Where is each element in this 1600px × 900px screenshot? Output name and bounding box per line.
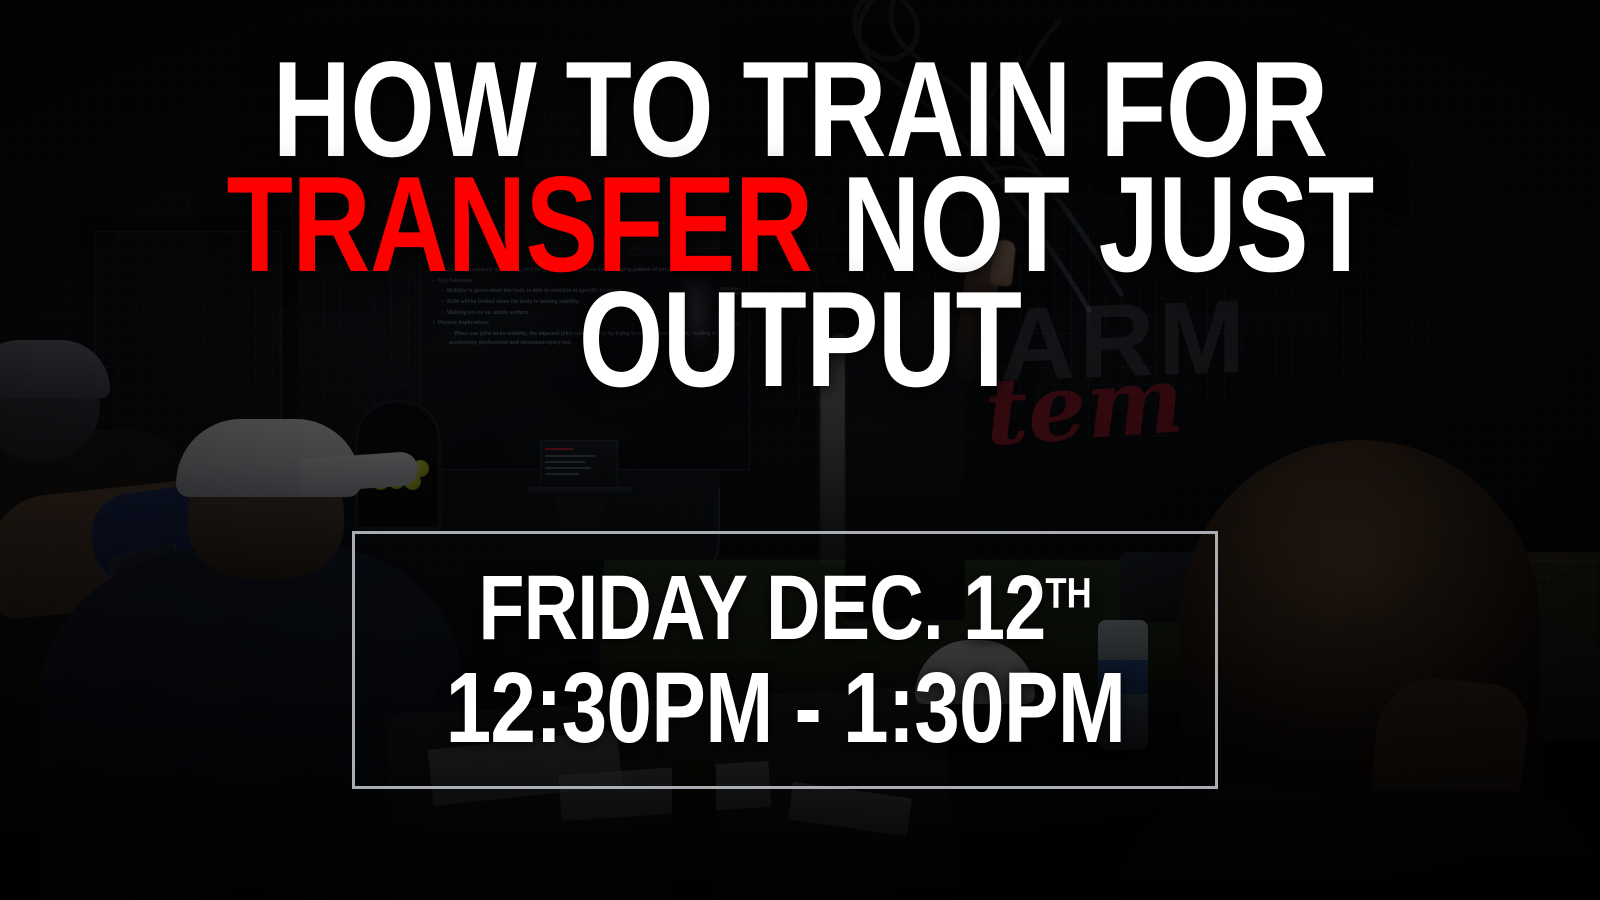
event-promo-poster: ARM tem Shoulder(Mobility) Elbow(Stabili… xyxy=(0,0,1600,900)
event-date-ordinal: TH xyxy=(1045,569,1091,616)
event-details-box: FRIDAY DEC. 12TH 12:30PM - 1:30PM xyxy=(352,531,1218,789)
event-time: 12:30PM - 1:30PM xyxy=(445,658,1125,758)
event-date-text: FRIDAY DEC. 12 xyxy=(478,557,1045,659)
headline: HOW TO TRAIN FOR TRANSFER NOT JUST OUTPU… xyxy=(0,52,1600,397)
event-date: FRIDAY DEC. 12TH xyxy=(478,562,1091,654)
headline-line-3: OUTPUT xyxy=(160,282,1440,397)
